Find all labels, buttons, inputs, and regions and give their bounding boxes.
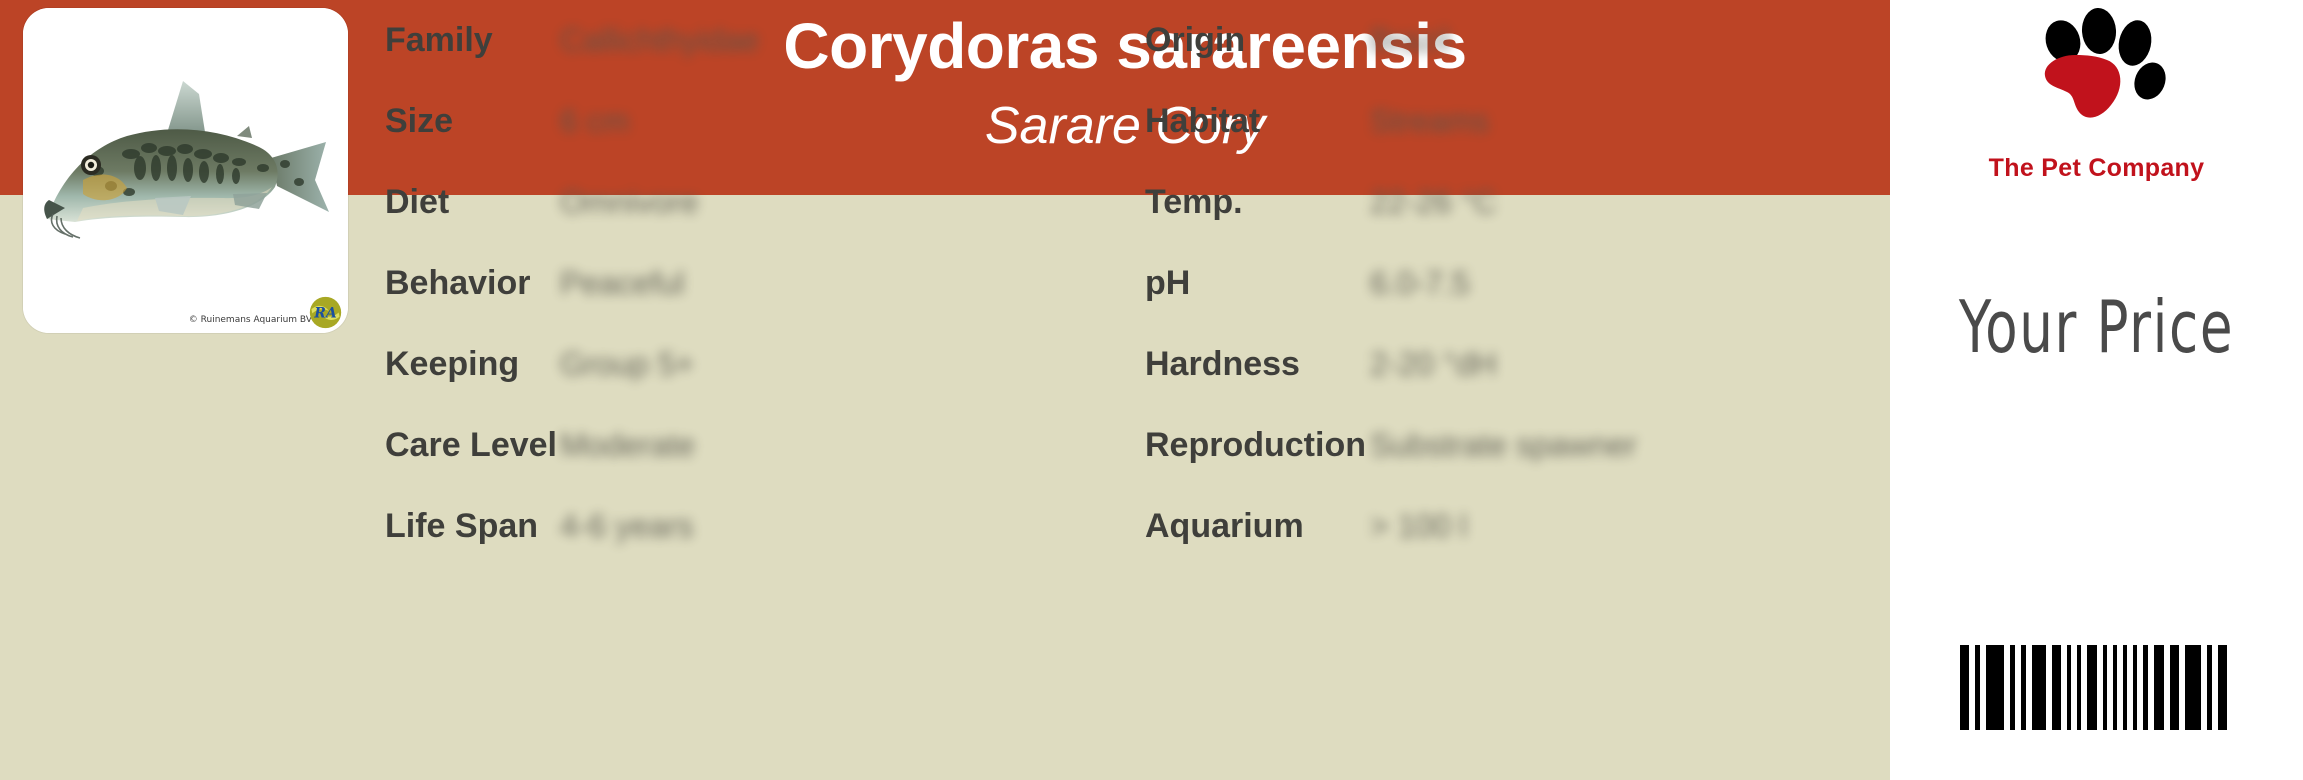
spec-value-reproduction: Substrate spawner [1370, 427, 1637, 464]
spec-label-keeping: Keeping [385, 345, 560, 384]
spec-row: Temp. 22-26 °C [1145, 162, 1885, 243]
spec-label-aquarium: Aquarium [1145, 507, 1370, 546]
barcode-bar [2113, 645, 2117, 730]
spec-row: Size 6 cm [385, 81, 985, 162]
paw-print-icon [2017, 8, 2177, 133]
spec-label-ph: pH [1145, 264, 1370, 303]
spec-row: Life Span 4-6 years [385, 486, 985, 567]
spec-label-reproduction: Reproduction [1145, 426, 1370, 465]
spec-row: Keeping Group 5+ [385, 324, 985, 405]
barcode-bar [2077, 645, 2081, 730]
brand-name: The Pet Company [1890, 154, 2303, 183]
barcode-bar [2010, 645, 2015, 730]
spec-label-hardness: Hardness [1145, 345, 1370, 384]
fish-photo-image [23, 8, 348, 333]
spec-row: Family Callichthyidae [385, 0, 985, 81]
barcode-bar [1975, 645, 1980, 730]
spec-value-family: Callichthyidae [560, 22, 759, 59]
barcode-bar [2170, 645, 2179, 730]
spec-value-ph: 6.0-7.5 [1370, 265, 1470, 302]
barcode-bar [2087, 645, 2097, 730]
barcode-bar [2032, 645, 2046, 730]
barcode-bar [2185, 645, 2201, 730]
spec-value-temp: 22-26 °C [1370, 184, 1497, 221]
spec-row: Habitat Streams [1145, 81, 1885, 162]
spec-value-origin: Brazil [1370, 22, 1450, 59]
spec-label-life-span: Life Span [385, 507, 560, 546]
barcode-bar [2218, 645, 2227, 730]
spec-value-hardness: 2-20 °dH [1370, 346, 1497, 383]
svg-text:RA: RA [313, 305, 337, 321]
barcode-bar [2154, 645, 2164, 730]
spec-column-right: Origin Brazil Habitat Streams Temp. 22-2… [1145, 0, 1885, 567]
photo-credit: © Ruinemans Aquarium BV [189, 315, 312, 325]
spec-value-behavior: Peaceful [560, 265, 685, 302]
spec-label-behavior: Behavior [385, 264, 560, 303]
spec-label-size: Size [385, 102, 560, 141]
barcode-bar [2133, 645, 2137, 730]
spec-value-keeping: Group 5+ [560, 346, 694, 383]
spec-row: Hardness 2-20 °dH [1145, 324, 1885, 405]
barcode-bar [2067, 645, 2071, 730]
spec-row: Diet Omnivore [385, 162, 985, 243]
brand-logo: The Pet Company [1890, 0, 2303, 200]
spec-label-temp: Temp. [1145, 183, 1370, 222]
ruinemans-aquarium-logo-icon: RA [309, 296, 342, 329]
spec-row: Care Level Moderate [385, 405, 985, 486]
spec-row: pH 6.0-7.5 [1145, 243, 1885, 324]
spec-label-habitat: Habitat [1145, 102, 1370, 141]
spec-column-left: Family Callichthyidae Size 6 cm Diet Omn… [385, 0, 985, 567]
barcode-bar [2143, 645, 2148, 730]
spec-label-diet: Diet [385, 183, 560, 222]
spec-label-family: Family [385, 21, 560, 60]
fish-photo-card: © Ruinemans Aquarium BV RA [23, 8, 348, 333]
price-panel: The Pet Company Your Price [1890, 0, 2303, 780]
barcode-bar [2207, 645, 2212, 730]
barcode-bar [1986, 645, 2004, 730]
barcode-bar [2103, 645, 2107, 730]
spec-row: Reproduction Substrate spawner [1145, 405, 1885, 486]
spec-row: Aquarium > 100 l [1145, 486, 1885, 567]
spec-value-habitat: Streams [1370, 103, 1489, 140]
product-label-card: Corydoras sarareensis Sarare Cory [0, 0, 2303, 780]
spec-label-care-level: Care Level [385, 426, 560, 465]
barcode-bar [2021, 645, 2026, 730]
spec-value-aquarium: > 100 l [1370, 508, 1467, 545]
barcode-bar [2123, 645, 2127, 730]
spec-value-care-level: Moderate [560, 427, 695, 464]
your-price-label: Your Price [1927, 285, 2266, 369]
spec-label-origin: Origin [1145, 21, 1370, 60]
spec-value-life-span: 4-6 years [560, 508, 693, 545]
barcode-bar [2052, 645, 2061, 730]
spec-row: Behavior Peaceful [385, 243, 985, 324]
spec-value-diet: Omnivore [560, 184, 699, 221]
barcode-bar [1960, 645, 1969, 730]
barcode [1890, 645, 2303, 730]
spec-row: Origin Brazil [1145, 0, 1885, 81]
spec-value-size: 6 cm [560, 103, 629, 140]
